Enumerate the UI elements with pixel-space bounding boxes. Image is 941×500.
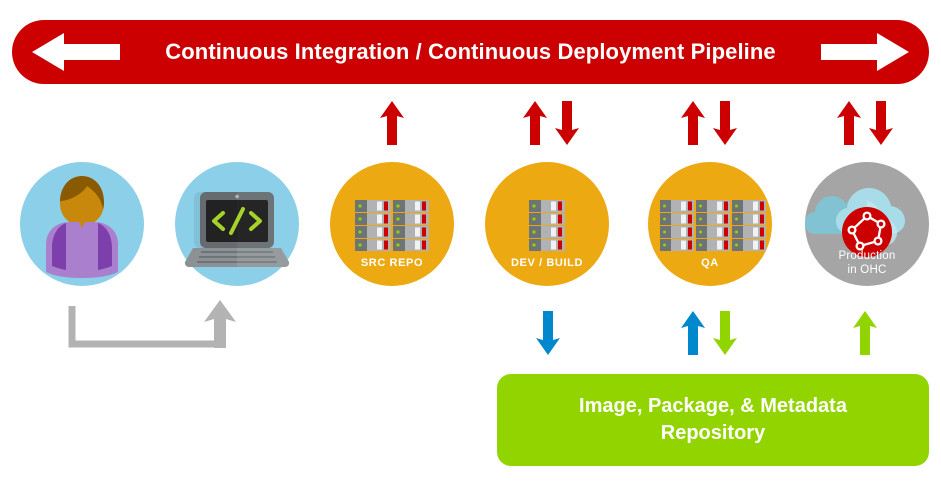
- person-developer-icon: [20, 162, 144, 286]
- arrow-up-src-repo: [379, 101, 405, 145]
- node-dev-build[interactable]: DEV / BUILD: [485, 162, 609, 286]
- arrow-right-icon: [819, 30, 911, 74]
- node-label-dev-build: DEV / BUILD: [485, 256, 609, 270]
- pipeline-banner: Continuous Integration / Continuous Depl…: [12, 20, 929, 84]
- arrow-up-dev-build: [522, 101, 548, 145]
- node-production[interactable]: Production in OHC: [805, 162, 929, 286]
- node-label-qa: QA: [648, 256, 772, 270]
- node-qa[interactable]: QA: [648, 162, 772, 286]
- page-title: Continuous Integration / Continuous Depl…: [165, 39, 776, 65]
- arrow-down-qa: [712, 101, 738, 145]
- node-label-production-line1: Production: [839, 250, 896, 262]
- arrow-down-dev-build: [554, 101, 580, 145]
- arrow-up-production: [836, 101, 862, 145]
- arrow-up-qa: [680, 101, 706, 145]
- node-label-production-line2: in OHC: [848, 264, 887, 276]
- arrow-down-dev-build-repo: [535, 311, 561, 355]
- arrow-left-icon: [30, 30, 122, 74]
- node-src-repo[interactable]: SRC REPO: [330, 162, 454, 286]
- diagram-canvas: Continuous Integration / Continuous Depl…: [0, 0, 941, 500]
- arrow-down-qa-repo: [712, 311, 738, 355]
- node-label-src-repo: SRC REPO: [330, 256, 454, 270]
- repository-label-line2: Repository: [661, 422, 765, 444]
- laptop-code-icon: [175, 162, 299, 286]
- node-laptop[interactable]: [175, 162, 299, 286]
- node-developer[interactable]: [20, 162, 144, 286]
- arrow-up-qa-repo: [680, 311, 706, 355]
- repository-label-line1: Image, Package, & Metadata: [579, 395, 847, 417]
- node-label-production: Production in OHC: [805, 249, 929, 277]
- repository-label: Image, Package, & Metadata Repository: [579, 393, 847, 447]
- repository-box[interactable]: Image, Package, & Metadata Repository: [497, 374, 929, 466]
- arrow-up-production-repo: [852, 311, 878, 355]
- arrow-up-connector-icon: [60, 300, 260, 360]
- arrow-down-production: [868, 101, 894, 145]
